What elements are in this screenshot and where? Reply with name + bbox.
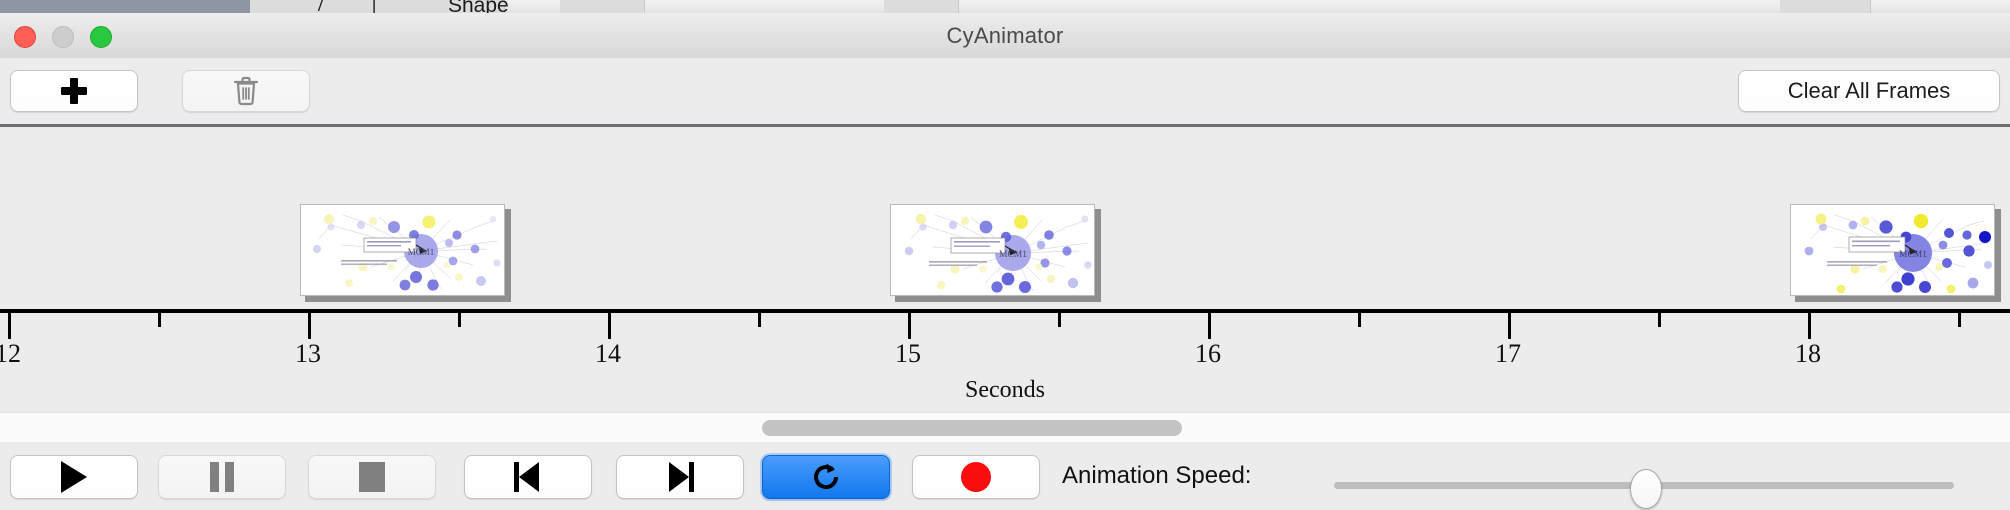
frame-thumbnail[interactable]: MCM1 bbox=[300, 204, 511, 302]
background-window-label: Shape bbox=[448, 0, 509, 13]
axis-tick bbox=[1508, 313, 1511, 339]
toolbar: Clear All Frames bbox=[0, 58, 2010, 124]
axis-tick-label: 17 bbox=[1495, 339, 1521, 369]
animation-speed-slider-thumb[interactable] bbox=[1630, 469, 1662, 509]
trash-icon bbox=[233, 76, 259, 106]
background-window-titlebar bbox=[0, 0, 250, 13]
window-title: CyAnimator bbox=[0, 13, 2010, 58]
axis-tick bbox=[1208, 313, 1211, 339]
play-icon bbox=[61, 461, 87, 493]
axis-tick bbox=[8, 313, 11, 339]
background-glyph-bar: | bbox=[372, 0, 376, 13]
axis-tick-minor bbox=[1958, 313, 1961, 327]
axis-tick-minor bbox=[758, 313, 761, 327]
background-glyph-slash: / bbox=[318, 0, 323, 13]
timeline-panel[interactable]: MCM1 bbox=[0, 127, 2010, 412]
clear-all-frames-button[interactable]: Clear All Frames bbox=[1738, 70, 2000, 112]
axis-tick bbox=[608, 313, 611, 339]
play-button[interactable] bbox=[10, 455, 138, 499]
skip-to-end-button[interactable] bbox=[616, 455, 744, 499]
svg-text:MCM1: MCM1 bbox=[1899, 250, 1927, 260]
loop-button[interactable] bbox=[762, 455, 890, 499]
axis-tick-minor bbox=[158, 313, 161, 327]
svg-text:MCM1: MCM1 bbox=[408, 247, 435, 257]
frame-network-preview: MCM1 bbox=[890, 204, 1095, 296]
frame-network-preview: MCM1 bbox=[300, 204, 505, 296]
stop-button[interactable] bbox=[308, 455, 436, 499]
skip-to-end-icon bbox=[666, 462, 694, 492]
timeline-horizontal-scrollbar[interactable] bbox=[0, 412, 2010, 443]
animation-speed-label: Animation Speed: bbox=[1062, 442, 1251, 510]
plus-icon bbox=[59, 76, 89, 106]
axis-tick-minor bbox=[1658, 313, 1661, 327]
axis-tick-label: 12 bbox=[0, 339, 21, 369]
record-button[interactable] bbox=[912, 455, 1040, 499]
axis-tick-label: 16 bbox=[1195, 339, 1221, 369]
add-frame-button[interactable] bbox=[10, 70, 138, 112]
stop-icon bbox=[359, 462, 385, 492]
skip-to-start-icon bbox=[514, 462, 542, 492]
skip-to-start-button[interactable] bbox=[464, 455, 592, 499]
axis-tick-label: 14 bbox=[595, 339, 621, 369]
pause-icon bbox=[210, 462, 234, 492]
frame-network-preview: MCM1 bbox=[1790, 204, 1995, 296]
pause-button[interactable] bbox=[158, 455, 286, 499]
timeline-axis-line bbox=[0, 309, 2010, 313]
axis-tick-minor bbox=[1358, 313, 1361, 327]
svg-text:MCM1: MCM1 bbox=[999, 250, 1027, 260]
background-window-strip: / | Shape bbox=[0, 0, 2010, 13]
record-icon bbox=[961, 462, 991, 492]
frame-thumbnail[interactable]: MCM1 bbox=[890, 204, 1101, 302]
scrollbar-thumb[interactable] bbox=[762, 420, 1182, 436]
axis-tick-minor bbox=[1058, 313, 1061, 327]
axis-title: Seconds bbox=[0, 377, 2010, 404]
cyanimator-window: / | Shape CyAnimator Clear All Frames bbox=[0, 0, 2010, 510]
loop-icon bbox=[809, 460, 843, 494]
axis-tick-label: 18 bbox=[1795, 339, 1821, 369]
axis-tick-label: 13 bbox=[295, 339, 321, 369]
axis-tick bbox=[908, 313, 911, 339]
title-bar: CyAnimator bbox=[0, 13, 2010, 59]
axis-tick bbox=[1808, 313, 1811, 339]
frame-thumbnail[interactable]: MCM1 bbox=[1790, 204, 2001, 302]
playback-control-bar: Animation Speed: bbox=[0, 442, 2010, 510]
delete-frame-button[interactable] bbox=[182, 70, 310, 112]
axis-tick bbox=[308, 313, 311, 339]
axis-tick-minor bbox=[458, 313, 461, 327]
clear-all-frames-label: Clear All Frames bbox=[1788, 78, 1951, 104]
axis-tick-label: 15 bbox=[895, 339, 921, 369]
